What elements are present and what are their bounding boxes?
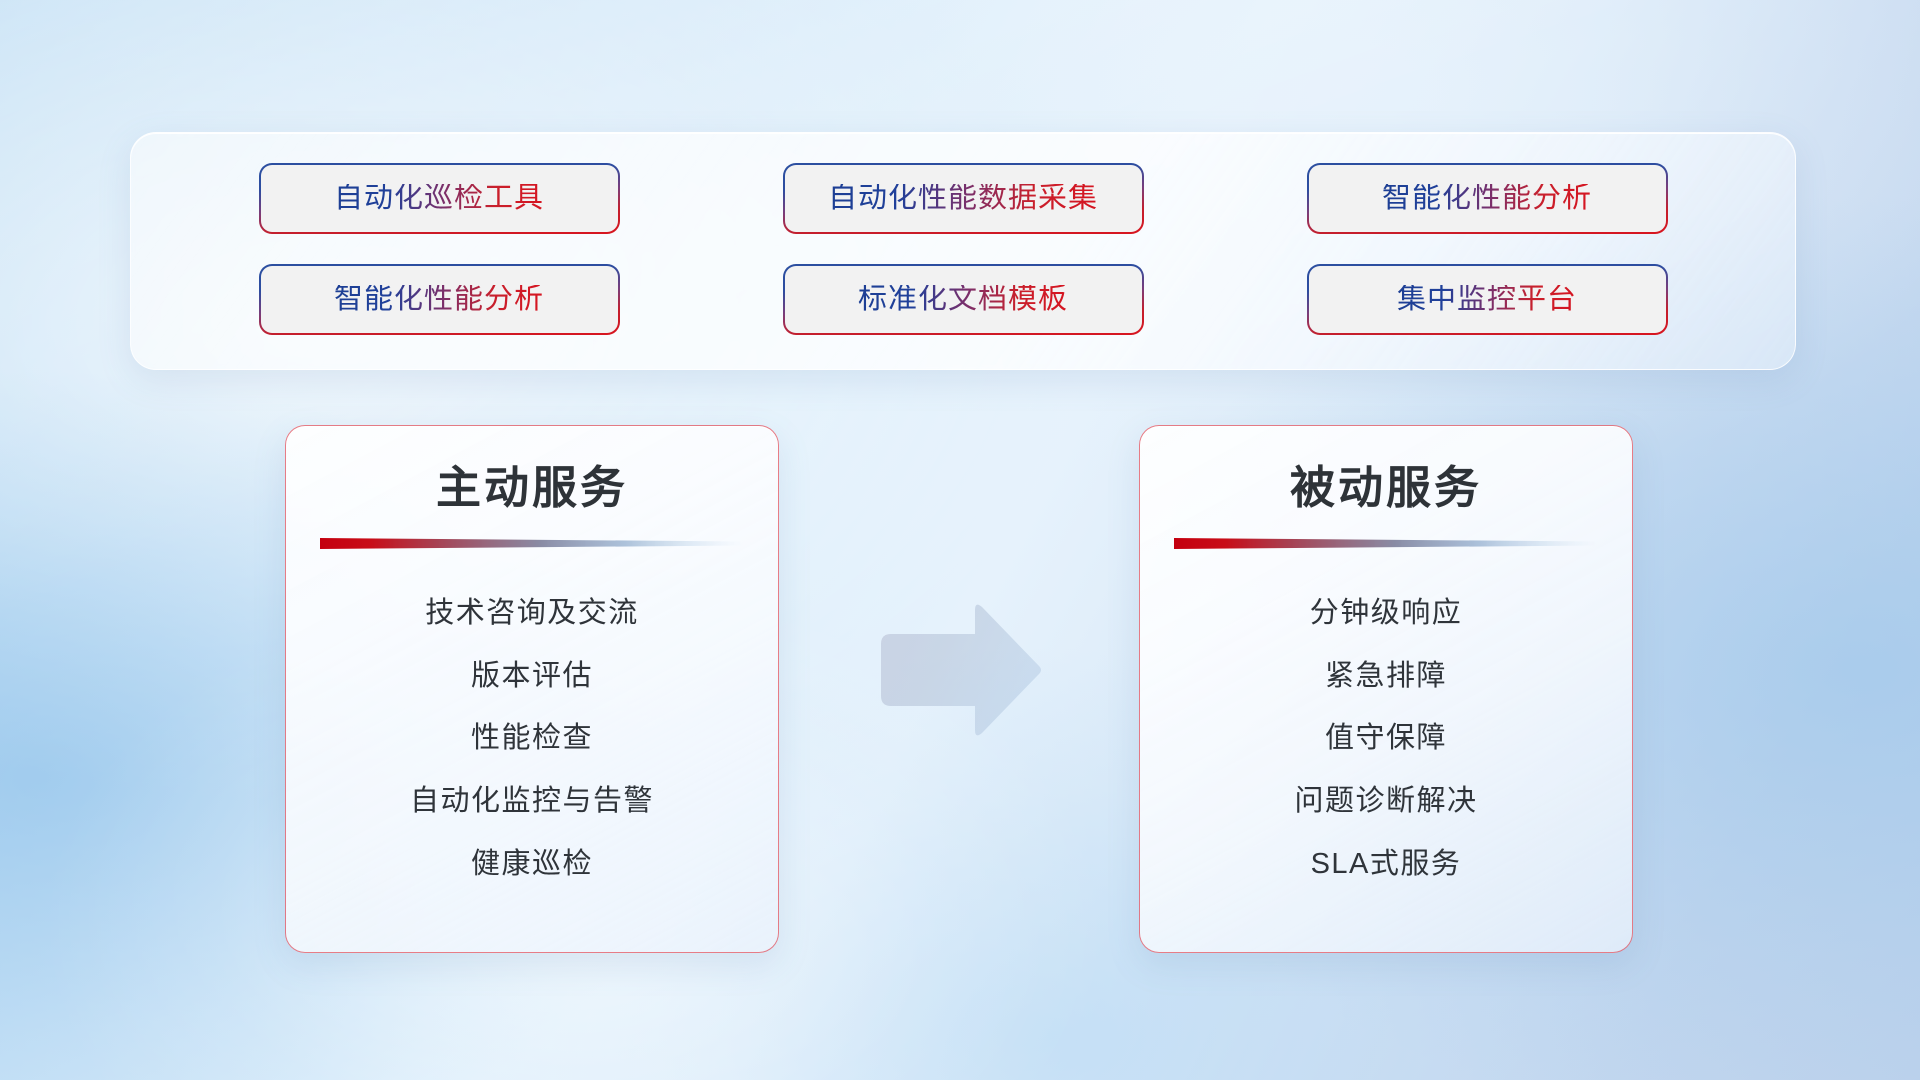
list-item: 问题诊断解决 (1172, 784, 1600, 819)
list-item: 自动化监控与告警 (318, 784, 746, 819)
pill-label: 标准化文档模板 (858, 285, 1068, 314)
card-divider (1174, 536, 1598, 552)
card-title: 被动服务 (1172, 462, 1600, 514)
list-item: 紧急排障 (1172, 659, 1600, 694)
list-item: 分钟级响应 (1172, 596, 1600, 631)
service-card-reactive: 被动服务 分钟级响应 紧急排障 (1139, 425, 1633, 953)
list-item: SLA式服务 (1172, 847, 1600, 882)
capability-pill-automated-inspection-tool[interactable]: 自动化巡检工具 (261, 165, 618, 232)
capability-pill-intelligent-performance-analysis-1[interactable]: 智能化性能分析 (1309, 165, 1666, 232)
list-item: 健康巡检 (318, 847, 746, 882)
card-divider (320, 536, 744, 552)
list-item: 值守保障 (1172, 721, 1600, 756)
pill-label: 集中监控平台 (1397, 285, 1577, 314)
pill-label: 智能化性能分析 (334, 285, 544, 314)
pill-label: 自动化性能数据采集 (828, 184, 1098, 213)
capability-tags-panel: 自动化巡检工具 自动化性能数据采集 智能化性能分析 智能化性能分析 标准化文档模… (130, 132, 1796, 370)
service-list-proactive: 技术咨询及交流 版本评估 性能检查 自动化监控与告警 健康巡检 (318, 552, 746, 928)
capability-pill-centralized-monitoring-platform[interactable]: 集中监控平台 (1309, 266, 1666, 333)
capability-pill-automated-performance-data-collection[interactable]: 自动化性能数据采集 (785, 165, 1142, 232)
list-item: 性能检查 (318, 721, 746, 756)
right-arrow-icon (875, 602, 1045, 744)
card-title: 主动服务 (318, 462, 746, 514)
service-list-reactive: 分钟级响应 紧急排障 值守保障 问题诊断解决 SLA式服务 (1172, 552, 1600, 928)
diagram-canvas: 自动化巡检工具 自动化性能数据采集 智能化性能分析 智能化性能分析 标准化文档模… (0, 0, 1920, 1080)
capability-pill-intelligent-performance-analysis-2[interactable]: 智能化性能分析 (261, 266, 618, 333)
capability-pill-standardized-document-template[interactable]: 标准化文档模板 (785, 266, 1142, 333)
list-item: 技术咨询及交流 (318, 596, 746, 631)
pill-label: 智能化性能分析 (1382, 184, 1592, 213)
service-card-proactive: 主动服务 技术咨询及交流 版本评估 (285, 425, 779, 953)
list-item: 版本评估 (318, 659, 746, 694)
pill-label: 自动化巡检工具 (334, 184, 544, 213)
